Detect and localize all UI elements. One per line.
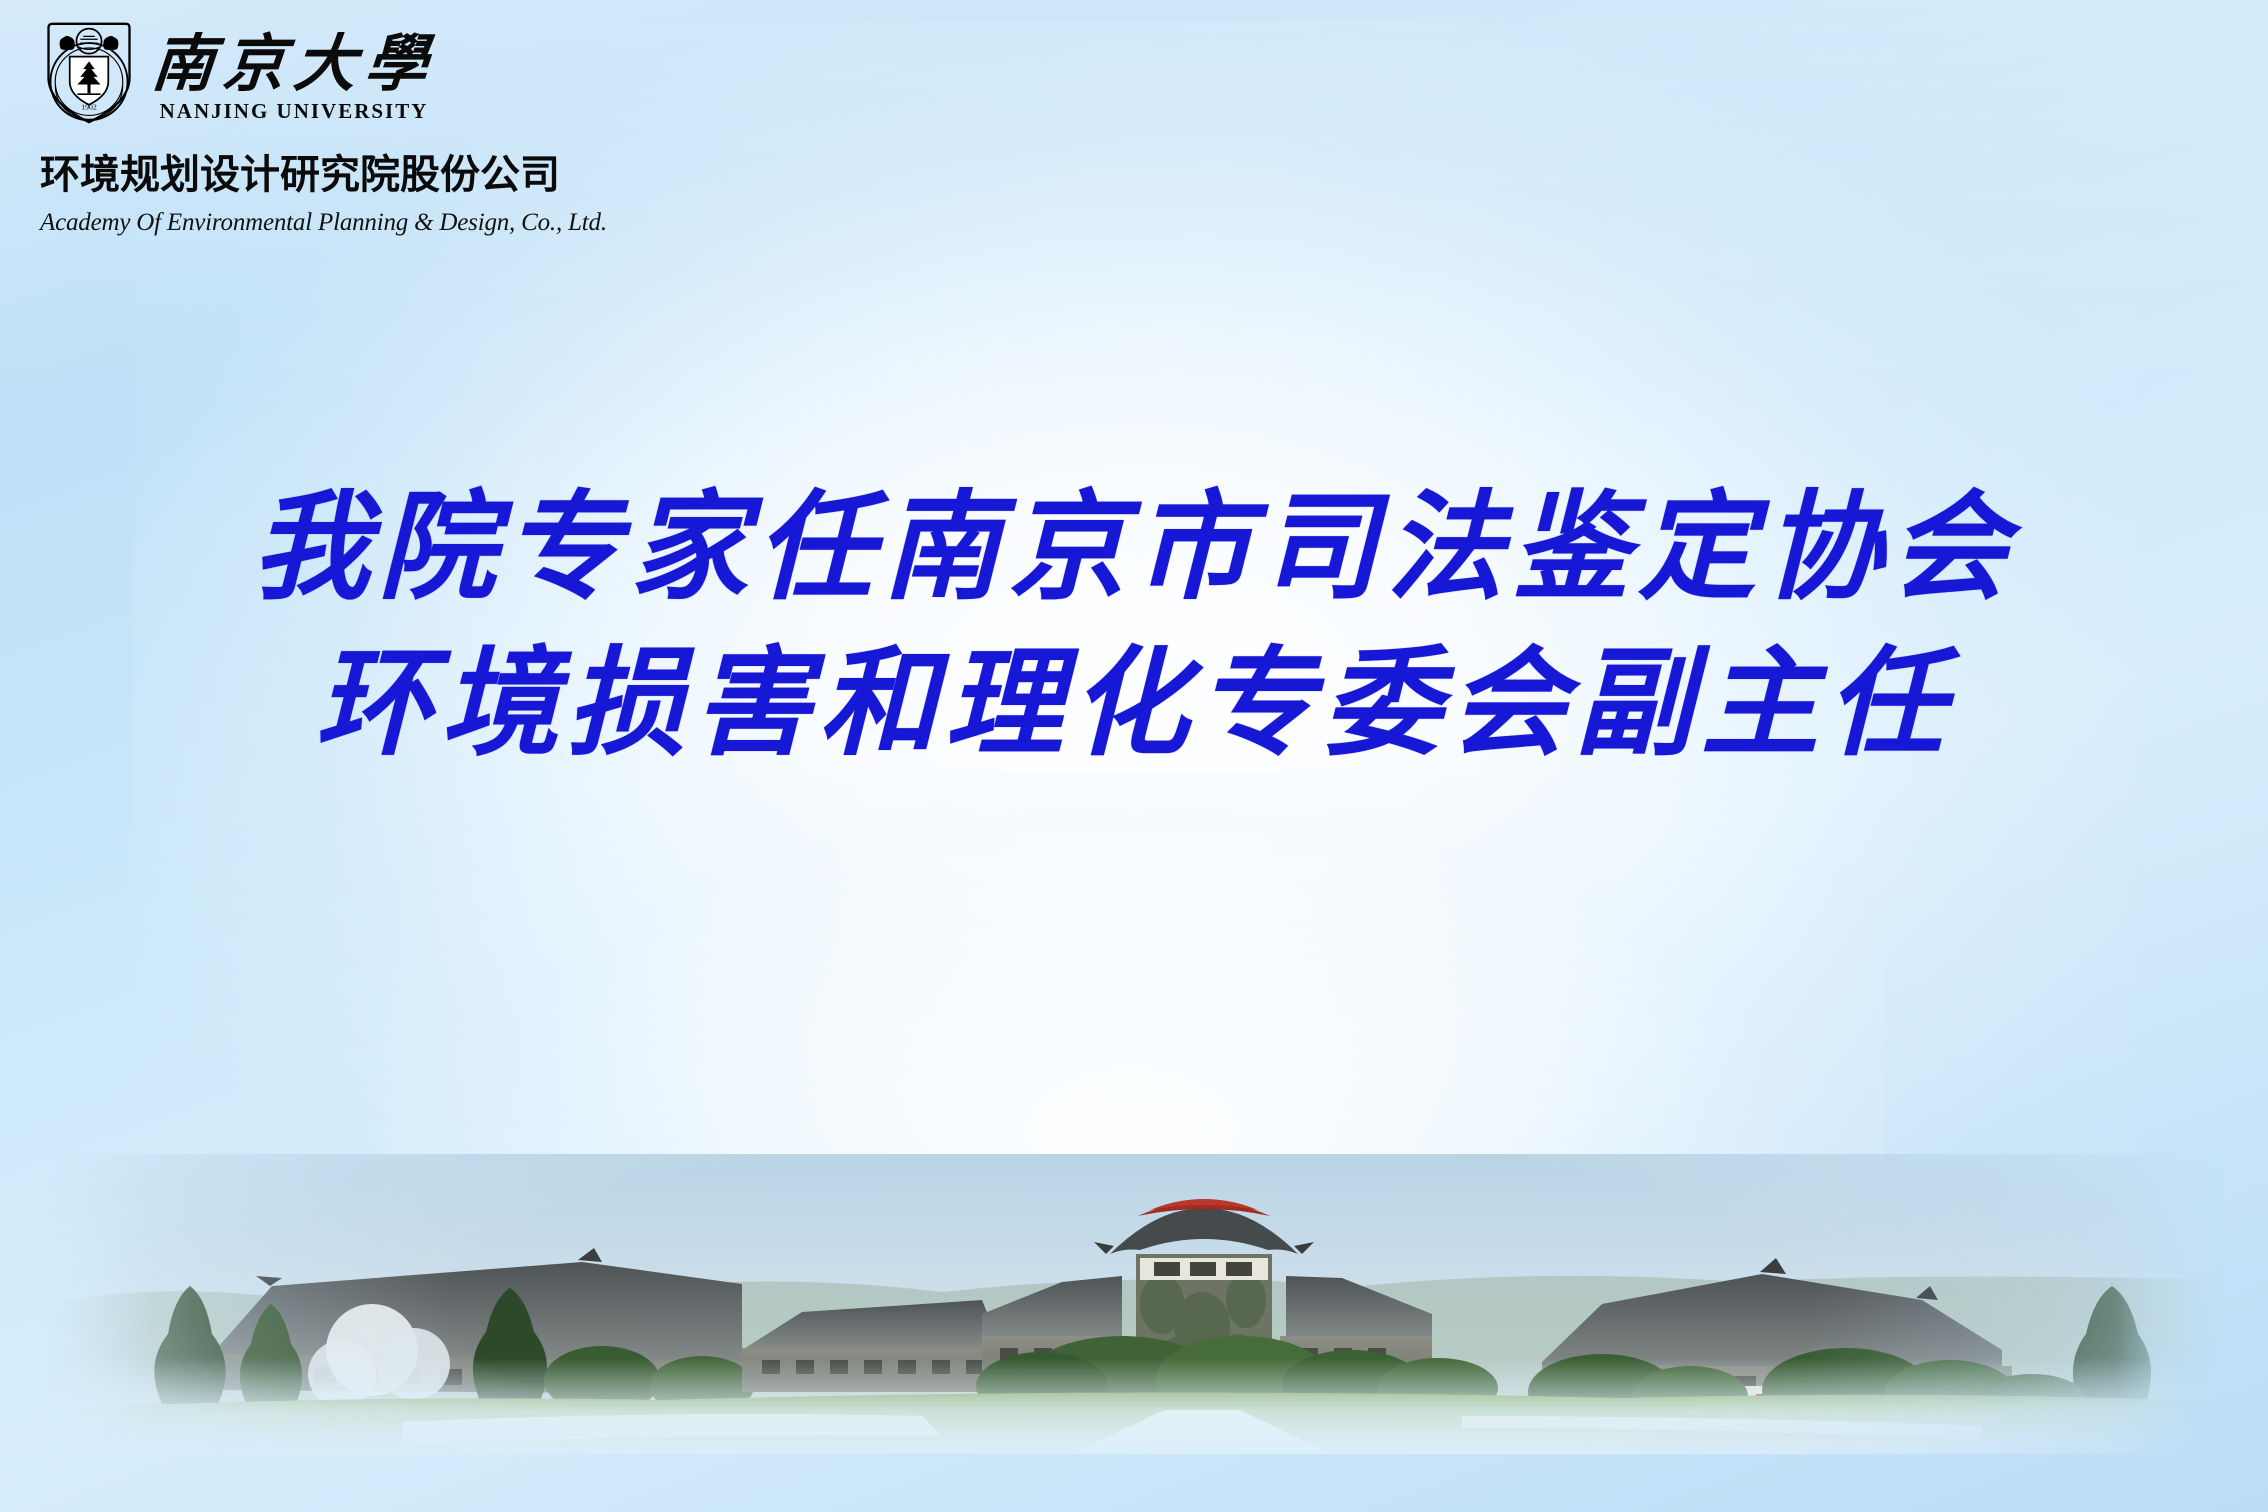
campus-photo-artwork: [42, 1154, 2226, 1454]
university-logo-row: 1902 南京大學 NANJING UNIVERSITY: [40, 18, 740, 126]
company-name-cn: 环境规划设计研究院股份公司: [40, 142, 740, 200]
crest-year: 1902: [81, 103, 97, 112]
company-name-en: Academy Of Environmental Planning & Desi…: [40, 209, 740, 237]
university-wordmark: 南京大學 NANJING UNIVERSITY: [152, 36, 436, 126]
presentation-slide: 1902 南京大學 NANJING UNIVERSITY 环境规划设计研究院股份…: [0, 0, 2268, 1512]
university-name-cn: 南京大學: [149, 36, 438, 94]
brand-logo-block: 1902 南京大學 NANJING UNIVERSITY 环境规划设计研究院股份…: [40, 18, 740, 237]
university-name-en: NANJING UNIVERSITY: [152, 99, 436, 124]
campus-panorama-photo: [42, 1154, 2226, 1454]
nanjing-university-crest-icon: 1902: [40, 18, 138, 126]
